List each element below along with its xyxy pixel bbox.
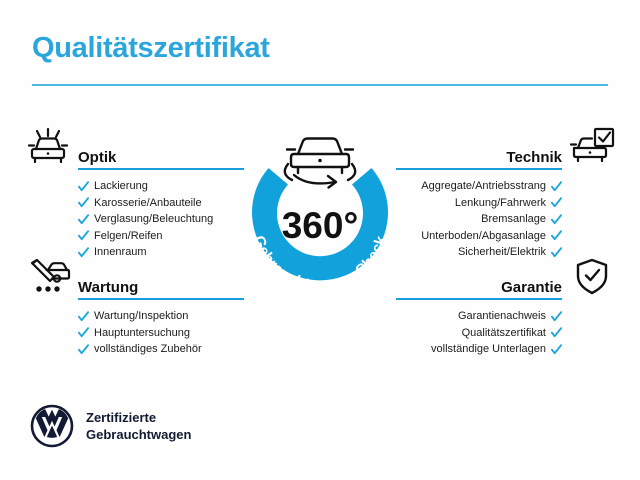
footer-line-1: Zertifizierte xyxy=(86,409,191,426)
check-icon xyxy=(551,311,562,322)
list-item: Unterboden/Abgasanlage xyxy=(388,228,562,245)
volkswagen-logo xyxy=(30,404,74,448)
list-item: Wartung/Inspektion xyxy=(78,308,252,325)
section-title-garantie: Garantie xyxy=(501,279,562,296)
check-icon xyxy=(78,197,89,208)
section-divider-wartung xyxy=(78,298,244,300)
section-header: Garantie xyxy=(388,256,618,298)
footer-brand: Zertifizierte Gebrauchtwagen xyxy=(30,404,191,448)
check-icon xyxy=(78,181,89,192)
list-item: Verglasung/Beleuchtung xyxy=(78,211,252,228)
shield-check-icon xyxy=(566,256,618,298)
list-item-label: Karosserie/Anbauteile xyxy=(94,195,202,212)
list-item-label: Verglasung/Beleuchtung xyxy=(94,211,213,228)
list-item: Aggregate/Antriebsstrang xyxy=(388,178,562,195)
car-checkbox-icon xyxy=(566,126,618,168)
page-title: Qualitätszertifikat xyxy=(32,32,270,65)
check-icon xyxy=(78,327,89,338)
check-icon xyxy=(78,311,89,322)
list-item-label: vollständiges Zubehör xyxy=(94,341,202,358)
check-icon xyxy=(78,214,89,225)
list-item: vollständige Unterlagen xyxy=(388,341,562,358)
list-item: Karosserie/Anbauteile xyxy=(78,195,252,212)
section-divider-optik xyxy=(78,168,244,170)
list-item: Qualitätszertifikat xyxy=(388,325,562,342)
section-header: Technik xyxy=(388,126,618,168)
check-icon xyxy=(551,230,562,241)
section-title-optik: Optik xyxy=(78,149,116,166)
check-icon xyxy=(551,344,562,355)
check-icon xyxy=(78,230,89,241)
360-gebrauchtwagen-check-badge: 360° Gebrauchtwagen-Check xyxy=(232,118,408,304)
list-item: Lenkung/Fahrwerk xyxy=(388,195,562,212)
check-icon xyxy=(551,197,562,208)
list-item-label: Unterboden/Abgasanlage xyxy=(421,228,546,245)
section-header: Wartung xyxy=(22,256,252,298)
car-rotate-icon xyxy=(285,139,355,188)
car-shine-icon xyxy=(22,126,74,168)
check-icon xyxy=(551,327,562,338)
section-technik: Technik Aggregate/Antriebsstrang Lenkung… xyxy=(388,126,618,261)
list-item-label: Lackierung xyxy=(94,178,148,195)
checklist-technik: Aggregate/Antriebsstrang Lenkung/Fahrwer… xyxy=(388,168,618,261)
list-item-label: vollständige Unterlagen xyxy=(431,341,546,358)
badge-value: 360° xyxy=(282,205,359,246)
list-item: Felgen/Reifen xyxy=(78,228,252,245)
qualitaetszertifikat-page: Qualitätszertifikat Optik xyxy=(0,0,640,480)
checklist-optik: Lackierung Karosserie/Anbauteile Verglas… xyxy=(22,168,252,261)
check-icon xyxy=(551,181,562,192)
section-divider-technik xyxy=(396,168,562,170)
title-divider xyxy=(32,84,608,86)
section-wartung: Wartung Wartung/Inspektion Hauptuntersuc… xyxy=(22,256,252,358)
list-item-label: Aggregate/Antriebsstrang xyxy=(421,178,546,195)
checklist-wartung: Wartung/Inspektion Hauptuntersuchung vol… xyxy=(22,298,252,358)
list-item: Bremsanlage xyxy=(388,211,562,228)
section-header: Optik xyxy=(22,126,252,168)
list-item-label: Garantienachweis xyxy=(458,308,546,325)
list-item-label: Felgen/Reifen xyxy=(94,228,163,245)
list-item: Lackierung xyxy=(78,178,252,195)
section-title-wartung: Wartung xyxy=(78,279,138,296)
list-item-label: Wartung/Inspektion xyxy=(94,308,188,325)
section-garantie: Garantie Garantienachweis Qualitätszerti… xyxy=(388,256,618,358)
section-optik: Optik Lackierung Karosserie/Anbauteile xyxy=(22,126,252,261)
list-item: vollständiges Zubehör xyxy=(78,341,252,358)
list-item-label: Hauptuntersuchung xyxy=(94,325,190,342)
list-item: Hauptuntersuchung xyxy=(78,325,252,342)
list-item-label: Lenkung/Fahrwerk xyxy=(455,195,546,212)
footer-text: Zertifizierte Gebrauchtwagen xyxy=(86,409,191,443)
check-icon xyxy=(551,214,562,225)
footer-line-2: Gebrauchtwagen xyxy=(86,426,191,443)
section-title-technik: Technik xyxy=(506,149,562,166)
checklist-garantie: Garantienachweis Qualitätszertifikat vol… xyxy=(388,298,618,358)
check-icon xyxy=(78,344,89,355)
service-pen-car-icon xyxy=(22,256,74,298)
list-item: Garantienachweis xyxy=(388,308,562,325)
list-item-label: Qualitätszertifikat xyxy=(462,325,546,342)
section-divider-garantie xyxy=(396,298,562,300)
list-item-label: Bremsanlage xyxy=(481,211,546,228)
